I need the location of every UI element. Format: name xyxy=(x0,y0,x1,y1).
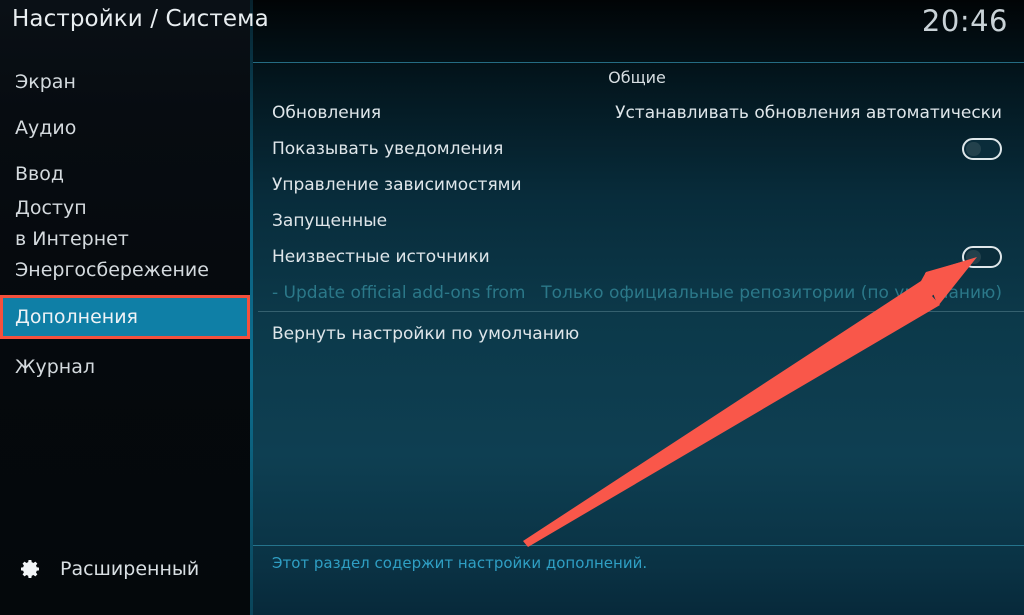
section-header: Общие xyxy=(250,68,1024,87)
sidebar-item-addons[interactable]: Дополнения xyxy=(0,295,250,339)
sidebar-item-internet[interactable]: в Интернет xyxy=(0,223,250,254)
setting-value: Устанавливать обновления автоматически xyxy=(615,103,1002,123)
sidebar-item-label: Экран xyxy=(15,71,76,93)
settings-list: Обновления Устанавливать обновления авто… xyxy=(250,95,1024,311)
setting-row-updates[interactable]: Обновления Устанавливать обновления авто… xyxy=(250,95,1024,131)
unknown-sources-toggle[interactable] xyxy=(962,246,1002,268)
setting-label: Показывать уведомления xyxy=(272,139,503,159)
sidebar-item-label: в Интернет xyxy=(15,228,129,250)
setting-value: Только официальные репозитории (по умолч… xyxy=(541,283,1002,303)
clock: 20:46 xyxy=(922,4,1008,38)
toggle-knob xyxy=(966,142,981,156)
sidebar-footer-label: Расширенный xyxy=(60,558,199,580)
sidebar-item-label: Аудио xyxy=(15,117,76,139)
kodi-settings-window: Экран Аудио Ввод Доступ в Интернет Энерг… xyxy=(0,0,1024,615)
sidebar-item-label: Журнал xyxy=(15,356,95,378)
status-text: Этот раздел содержит настройки дополнени… xyxy=(272,554,647,572)
sidebar-item-power-saving[interactable]: Энергосбережение xyxy=(0,254,250,285)
setting-row-reset-defaults[interactable]: Вернуть настройки по умолчанию xyxy=(250,316,1024,352)
sidebar-item-label: Доступ xyxy=(15,197,87,219)
gear-icon xyxy=(18,557,42,581)
setting-row-unknown-sources[interactable]: Неизвестные источники xyxy=(250,239,1024,275)
sidebar-item-label: Дополнения xyxy=(15,306,138,328)
sidebar-item-label: Энергосбережение xyxy=(15,259,209,281)
page-title: Настройки / Система xyxy=(12,6,269,32)
sidebar-item-log[interactable]: Журнал xyxy=(0,349,250,385)
content-panel: 20:46 Общие Обновления Устанавливать обн… xyxy=(250,0,1024,615)
setting-label: Управление зависимостями xyxy=(272,175,522,195)
status-divider xyxy=(253,545,1024,546)
setting-row-running[interactable]: Запущенные xyxy=(250,203,1024,239)
sidebar-item-audio[interactable]: Аудио xyxy=(0,110,250,146)
setting-row-show-notifications[interactable]: Показывать уведомления xyxy=(250,131,1024,167)
sidebar-item-screen[interactable]: Экран xyxy=(0,64,250,100)
setting-label: Запущенные xyxy=(272,211,387,231)
setting-label: Обновления xyxy=(272,103,381,123)
sidebar-item-access[interactable]: Доступ xyxy=(0,192,250,223)
toggle-knob xyxy=(966,250,981,264)
sidebar-menu: Экран Аудио Ввод Доступ в Интернет Энерг… xyxy=(0,64,250,385)
setting-row-update-official-addons: - Update official add-ons from Только оф… xyxy=(250,275,1024,311)
reset-divider xyxy=(258,311,1024,312)
setting-row-manage-dependencies[interactable]: Управление зависимостями xyxy=(250,167,1024,203)
sidebar: Экран Аудио Ввод Доступ в Интернет Энерг… xyxy=(0,0,250,615)
sidebar-footer-advanced[interactable]: Расширенный xyxy=(0,549,250,589)
reset-row-wrapper: Вернуть настройки по умолчанию xyxy=(250,316,1024,352)
setting-label: Неизвестные источники xyxy=(272,247,490,267)
sidebar-item-label: Ввод xyxy=(15,163,64,185)
setting-label: - Update official add-ons from xyxy=(272,283,525,303)
setting-label: Вернуть настройки по умолчанию xyxy=(272,324,579,344)
header-divider xyxy=(253,62,1024,63)
notifications-toggle[interactable] xyxy=(962,138,1002,160)
sidebar-item-input[interactable]: Ввод xyxy=(0,156,250,192)
